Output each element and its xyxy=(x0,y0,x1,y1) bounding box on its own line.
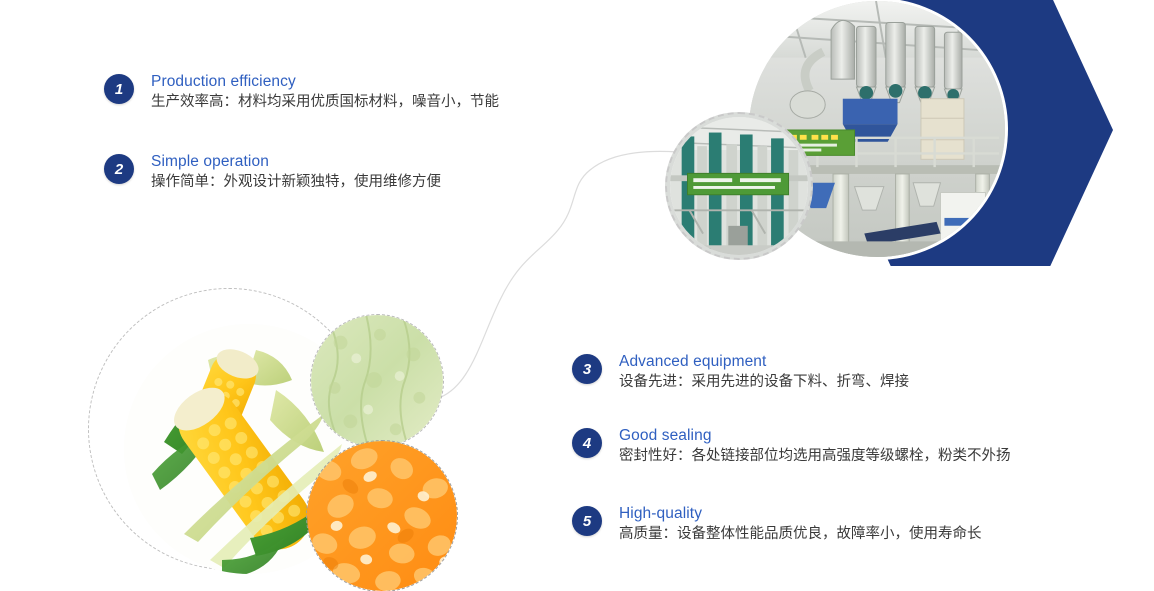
corn-media-cluster xyxy=(88,282,470,591)
feature-body-2: 操作简单：外观设计新颖独特，使用维修方便 xyxy=(151,172,441,193)
corn-flour-photo xyxy=(310,314,444,448)
equipment-media-cluster xyxy=(660,0,1154,294)
feature-badge-2: 2 xyxy=(104,154,134,184)
feature-text-5: High-quality 高质量：设备整体性能品质优良，故障率小，使用寿命长 xyxy=(619,504,982,545)
feature-badge-3: 3 xyxy=(572,354,602,384)
feature-item-1: 1 Production efficiency 生产效率高：材料均采用优质国标材… xyxy=(104,72,499,113)
feature-heading-5: High-quality xyxy=(619,504,982,523)
feature-item-2: 2 Simple operation 操作简单：外观设计新颖独特，使用维修方便 xyxy=(104,152,441,193)
feature-body-1: 生产效率高：材料均采用优质国标材料，噪音小，节能 xyxy=(151,92,499,113)
feature-heading-1: Production efficiency xyxy=(151,72,499,91)
feature-text-1: Production efficiency 生产效率高：材料均采用优质国标材料，… xyxy=(151,72,499,113)
infographic-canvas: 1 Production efficiency 生产效率高：材料均采用优质国标材… xyxy=(0,0,1154,591)
corn-grits-photo xyxy=(306,440,458,591)
feature-badge-1: 1 xyxy=(104,74,134,104)
feature-body-5: 高质量：设备整体性能品质优良，故障率小，使用寿命长 xyxy=(619,524,982,545)
feature-text-3: Advanced equipment 设备先进：采用先进的设备下料、折弯、焊接 xyxy=(619,352,909,393)
green-machinery-photo xyxy=(665,112,813,260)
feature-heading-2: Simple operation xyxy=(151,152,441,171)
feature-badge-5: 5 xyxy=(572,506,602,536)
feature-text-2: Simple operation 操作简单：外观设计新颖独特，使用维修方便 xyxy=(151,152,441,193)
feature-text-4: Good sealing 密封性好：各处链接部位均选用高强度等级螺栓，粉类不外扬 xyxy=(619,426,1011,467)
feature-item-3: 3 Advanced equipment 设备先进：采用先进的设备下料、折弯、焊… xyxy=(572,352,909,393)
feature-heading-4: Good sealing xyxy=(619,426,1011,445)
feature-heading-3: Advanced equipment xyxy=(619,352,909,371)
feature-body-3: 设备先进：采用先进的设备下料、折弯、焊接 xyxy=(619,372,909,393)
feature-item-4: 4 Good sealing 密封性好：各处链接部位均选用高强度等级螺栓，粉类不… xyxy=(572,426,1011,467)
feature-body-4: 密封性好：各处链接部位均选用高强度等级螺栓，粉类不外扬 xyxy=(619,446,1011,467)
feature-badge-4: 4 xyxy=(572,428,602,458)
feature-item-5: 5 High-quality 高质量：设备整体性能品质优良，故障率小，使用寿命长 xyxy=(572,504,982,545)
